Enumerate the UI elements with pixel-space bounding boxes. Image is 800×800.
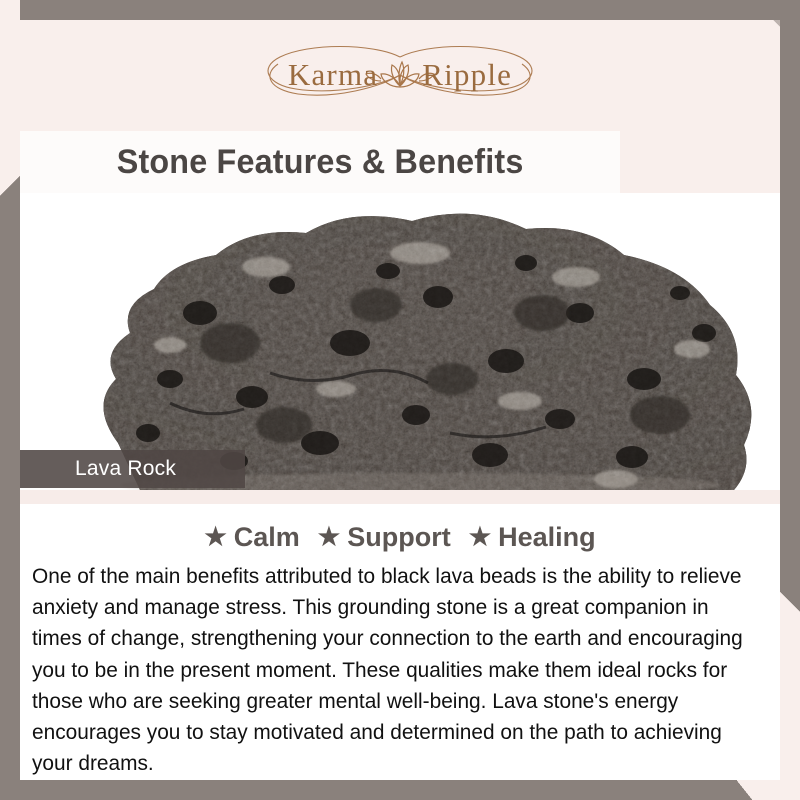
frame-bevel-right-bottom <box>780 592 800 612</box>
frame-edge-right <box>780 0 800 592</box>
feature-label: Support <box>347 522 450 553</box>
title-banner: Stone Features & Benefits <box>20 131 620 193</box>
brand-logo: Karma Ripple <box>0 20 800 130</box>
lava-rock-photo-panel <box>20 193 780 490</box>
photo-underline-strip <box>20 490 780 504</box>
frame-edge-top <box>20 0 800 20</box>
photo-caption-label: Lava Rock <box>20 457 176 481</box>
photo-caption-bar: Lava Rock <box>20 450 245 488</box>
star-icon: ★ <box>318 525 340 550</box>
brand-word-right: Ripple <box>422 57 512 93</box>
brand-word-left: Karma <box>288 57 378 93</box>
feature-list: ★ Calm ★ Support ★ Healing <box>20 512 780 553</box>
content-panel: ★ Calm ★ Support ★ Healing One of the ma… <box>20 512 780 780</box>
photo-underline-strip-2 <box>20 504 780 512</box>
star-icon: ★ <box>204 525 226 550</box>
frame-edge-left <box>0 196 20 800</box>
page-title: Stone Features & Benefits <box>117 143 524 182</box>
lava-rock-photo <box>20 193 780 490</box>
feature-label: Healing <box>498 522 596 553</box>
star-icon: ★ <box>469 525 491 550</box>
infographic-card: Lava Rock ★ Calm ★ Support ★ Healing One… <box>0 0 800 800</box>
frame-bevel-left-top <box>0 176 20 196</box>
feature-item: ★ Healing <box>469 522 596 553</box>
frame-edge-bottom <box>0 780 737 800</box>
frame-notch-top-right <box>773 20 780 27</box>
feature-item: ★ Calm <box>204 522 299 553</box>
body-paragraph: One of the main benefits attributed to b… <box>32 561 748 779</box>
feature-item: ★ Support <box>318 522 451 553</box>
frame-bevel-bottom-right <box>737 780 753 800</box>
feature-label: Calm <box>234 522 300 553</box>
